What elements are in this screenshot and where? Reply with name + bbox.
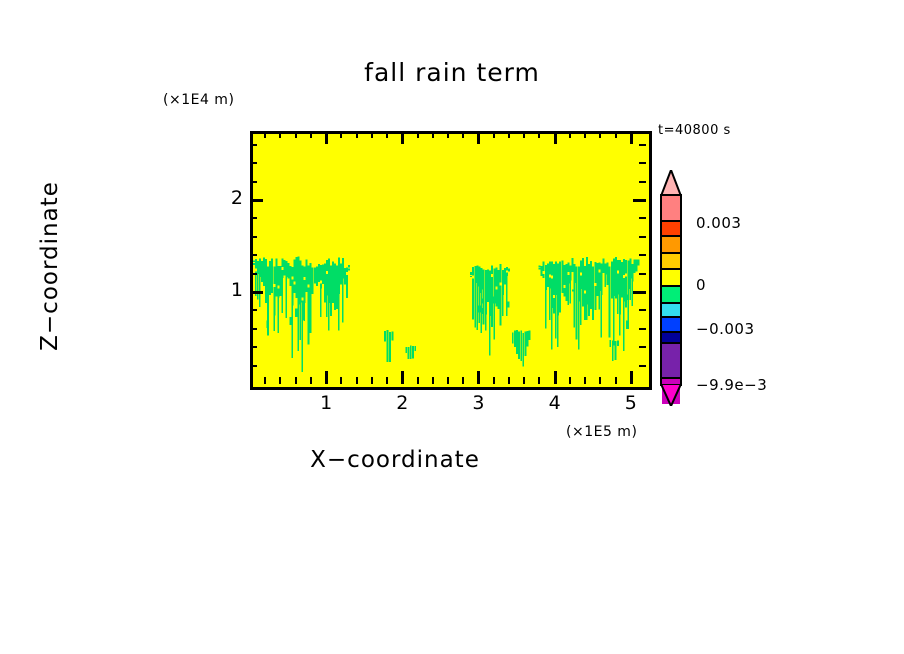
tick-mark xyxy=(630,371,633,384)
tick-mark xyxy=(250,236,257,238)
colorbar-gradient xyxy=(660,194,682,386)
tick-mark xyxy=(569,131,571,138)
page-title: fall rain term xyxy=(0,58,904,87)
colorbar-tick-label: −0.003 xyxy=(696,320,755,338)
tick-mark xyxy=(523,131,525,138)
x-axis-unit-label: (×1E5 m) xyxy=(566,424,637,440)
colorbar-tick-label: −9.9e−3 xyxy=(696,376,767,394)
x-tick-label: 1 xyxy=(306,392,346,414)
tick-mark xyxy=(477,371,480,384)
tick-mark xyxy=(340,131,342,138)
colorbar-segment xyxy=(662,318,680,333)
tick-mark xyxy=(250,291,263,294)
tick-mark xyxy=(401,371,404,384)
plot-area xyxy=(250,131,652,390)
tick-mark xyxy=(250,162,257,164)
colorbar-top-arrow-icon xyxy=(660,170,682,196)
tick-mark xyxy=(639,144,646,146)
tick-mark xyxy=(250,144,257,146)
tick-mark xyxy=(250,346,257,348)
tick-mark xyxy=(599,377,601,384)
tick-mark xyxy=(356,131,358,138)
tick-mark xyxy=(295,131,297,138)
colorbar-segment xyxy=(662,287,680,304)
tick-mark xyxy=(639,346,646,348)
tick-mark xyxy=(432,377,434,384)
tick-mark xyxy=(639,162,646,164)
tick-mark xyxy=(462,377,464,384)
colorbar-segment xyxy=(662,333,680,344)
tick-mark xyxy=(639,328,646,330)
x-tick-label: 2 xyxy=(382,392,422,414)
tick-mark xyxy=(477,131,480,144)
tick-mark xyxy=(508,131,510,138)
tick-mark xyxy=(295,377,297,384)
tick-mark xyxy=(325,371,328,384)
tick-mark xyxy=(639,181,646,183)
tick-mark xyxy=(633,199,646,202)
colorbar-segment xyxy=(662,270,680,287)
colorbar-segment xyxy=(662,222,680,237)
tick-mark xyxy=(462,131,464,138)
tick-mark xyxy=(386,377,388,384)
x-axis-title: X−coordinate xyxy=(0,447,790,473)
x-tick-label: 4 xyxy=(535,392,575,414)
tick-mark xyxy=(538,377,540,384)
y-tick-label: 2 xyxy=(203,187,243,209)
tick-mark xyxy=(250,365,257,367)
heatmap-canvas xyxy=(253,134,649,387)
tick-mark xyxy=(538,131,540,138)
tick-mark xyxy=(639,236,646,238)
tick-mark xyxy=(615,131,617,138)
tick-mark xyxy=(630,131,633,144)
tick-mark xyxy=(584,131,586,138)
tick-mark xyxy=(639,309,646,311)
tick-mark xyxy=(371,131,373,138)
tick-mark xyxy=(447,131,449,138)
tick-mark xyxy=(250,217,257,219)
tick-mark xyxy=(554,131,557,144)
tick-mark xyxy=(639,254,646,256)
x-tick-label: 3 xyxy=(458,392,498,414)
tick-mark xyxy=(493,377,495,384)
x-tick-label: 5 xyxy=(611,392,651,414)
tick-mark xyxy=(279,377,281,384)
tick-mark xyxy=(639,273,646,275)
colorbar-segment xyxy=(662,237,680,254)
colorbar-segment xyxy=(662,254,680,271)
tick-mark xyxy=(417,131,419,138)
tick-mark xyxy=(447,377,449,384)
tick-mark xyxy=(340,377,342,384)
tick-mark xyxy=(371,377,373,384)
colorbar-tick-label: 0.003 xyxy=(696,214,741,232)
tick-mark xyxy=(310,131,312,138)
y-axis-unit-label: (×1E4 m) xyxy=(163,92,234,108)
colorbar-tick-label: 0 xyxy=(696,276,706,294)
tick-mark xyxy=(250,199,263,202)
tick-mark xyxy=(615,377,617,384)
tick-mark xyxy=(356,377,358,384)
tick-mark xyxy=(386,131,388,138)
tick-mark xyxy=(493,131,495,138)
tick-mark xyxy=(639,365,646,367)
tick-mark xyxy=(432,131,434,138)
tick-mark xyxy=(639,217,646,219)
colorbar-segment xyxy=(662,304,680,319)
tick-mark xyxy=(508,377,510,384)
tick-mark xyxy=(523,377,525,384)
tick-mark xyxy=(633,291,646,294)
tick-mark xyxy=(554,371,557,384)
y-tick-label: 1 xyxy=(203,279,243,301)
tick-mark xyxy=(584,377,586,384)
tick-mark xyxy=(569,377,571,384)
tick-mark xyxy=(599,131,601,138)
tick-mark xyxy=(401,131,404,144)
colorbar-bottom-arrow-icon xyxy=(660,384,682,406)
tick-mark xyxy=(250,309,257,311)
time-annotation: t=40800 s xyxy=(658,123,731,138)
tick-mark xyxy=(264,377,266,384)
colorbar-segment xyxy=(662,344,680,379)
y-axis-title: Z−coordinate xyxy=(37,116,63,416)
tick-mark xyxy=(279,131,281,138)
tick-mark xyxy=(310,377,312,384)
tick-mark xyxy=(250,273,257,275)
tick-mark xyxy=(250,181,257,183)
tick-mark xyxy=(325,131,328,144)
tick-mark xyxy=(250,254,257,256)
tick-mark xyxy=(264,131,266,138)
colorbar-segment xyxy=(662,196,680,222)
tick-mark xyxy=(417,377,419,384)
tick-mark xyxy=(250,328,257,330)
